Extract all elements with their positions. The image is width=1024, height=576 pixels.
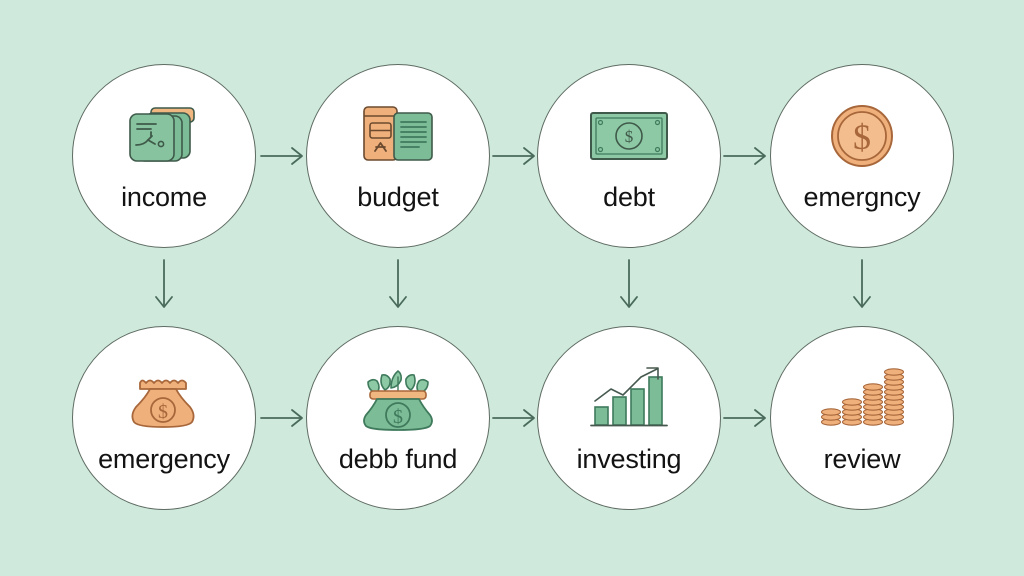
svg-text:$: $ (853, 117, 871, 157)
node-investing[interactable]: investing (537, 326, 721, 510)
node-label: investing (577, 446, 682, 473)
connector-income-to-emergency (151, 258, 177, 316)
connector-investing-to-review (722, 405, 772, 431)
node-debt[interactable]: $ debt (537, 64, 721, 248)
growth-money-bag-icon: $ (353, 360, 443, 436)
connector-budget-to-debb-fund (385, 258, 411, 316)
diagram-canvas: income budget (0, 0, 1024, 576)
svg-text:$: $ (393, 406, 403, 428)
connector-debt-to-emergncy (722, 143, 772, 169)
stacked-cash-cards-icon (119, 98, 209, 174)
svg-text:$: $ (158, 401, 168, 423)
budget-book-icon (353, 98, 443, 174)
connector-debt-to-investing (616, 258, 642, 316)
bar-chart-growth-icon (584, 360, 674, 436)
connector-income-to-budget (259, 143, 309, 169)
node-label: income (121, 184, 207, 211)
node-budget[interactable]: budget (306, 64, 490, 248)
node-label: debt (603, 184, 655, 211)
node-label: emergency (98, 446, 230, 473)
node-label: debb fund (339, 446, 457, 473)
node-label: budget (357, 184, 438, 211)
node-review[interactable]: review (770, 326, 954, 510)
connector-budget-to-debt (491, 143, 541, 169)
money-bag-icon: $ (119, 360, 209, 436)
node-emergncy-top[interactable]: $ emergncy (770, 64, 954, 248)
node-debb-fund[interactable]: $ debb fund (306, 326, 490, 510)
svg-text:$: $ (625, 127, 634, 146)
connector-debb-fund-to-investing (491, 405, 541, 431)
node-label: review (824, 446, 901, 473)
coin-stacks-icon (817, 360, 907, 436)
node-label: emergncy (804, 184, 921, 211)
connector-emergncy-to-review (849, 258, 875, 316)
banknote-icon: $ (584, 98, 674, 174)
node-emergency[interactable]: $ emergency (72, 326, 256, 510)
dollar-coin-icon: $ (817, 98, 907, 174)
node-income[interactable]: income (72, 64, 256, 248)
connector-emergency-to-debb-fund (259, 405, 309, 431)
